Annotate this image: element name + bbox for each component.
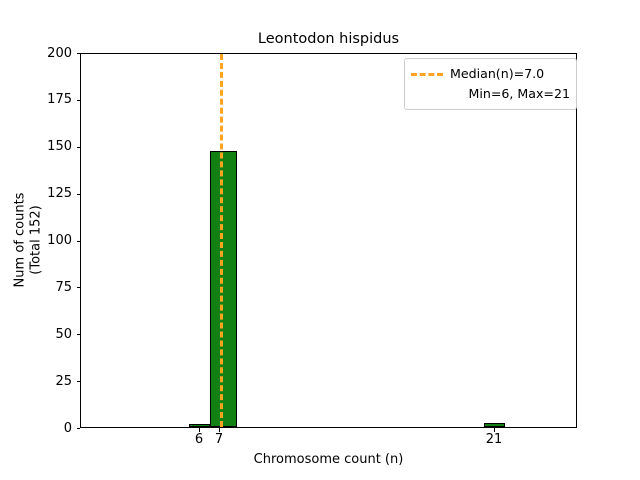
legend-label-minmax: Min=6, Max=21 <box>450 87 570 101</box>
y-tick-mark-0 <box>77 428 81 429</box>
y-axis-label-wrapper: Num of counts (Total 152) <box>12 53 46 428</box>
x-tick-label-7: 7 <box>215 433 223 447</box>
legend-entry-minmax: Min=6, Max=21 <box>411 84 570 104</box>
dashed-line-icon <box>411 73 443 76</box>
blank-swatch-icon <box>411 93 443 96</box>
bar-n-21 <box>484 423 505 427</box>
x-axis-label: Chromosome count (n) <box>80 452 577 467</box>
legend-entry-median: Median(n)=7.0 <box>411 64 570 84</box>
x-tick-label-21: 21 <box>486 433 503 447</box>
x-tick-label-6: 6 <box>195 433 203 447</box>
figure-canvas: Leontodon hispidus 200 175 150 125 100 7… <box>0 0 640 480</box>
bar-n-6 <box>189 424 210 427</box>
bar-n-7 <box>210 151 237 427</box>
chart-title: Leontodon hispidus <box>80 30 577 48</box>
median-line <box>220 54 223 427</box>
legend: Median(n)=7.0 Min=6, Max=21 <box>404 58 577 110</box>
y-axis-label: Num of counts (Total 152) <box>13 193 45 288</box>
legend-label-median: Median(n)=7.0 <box>450 67 570 81</box>
